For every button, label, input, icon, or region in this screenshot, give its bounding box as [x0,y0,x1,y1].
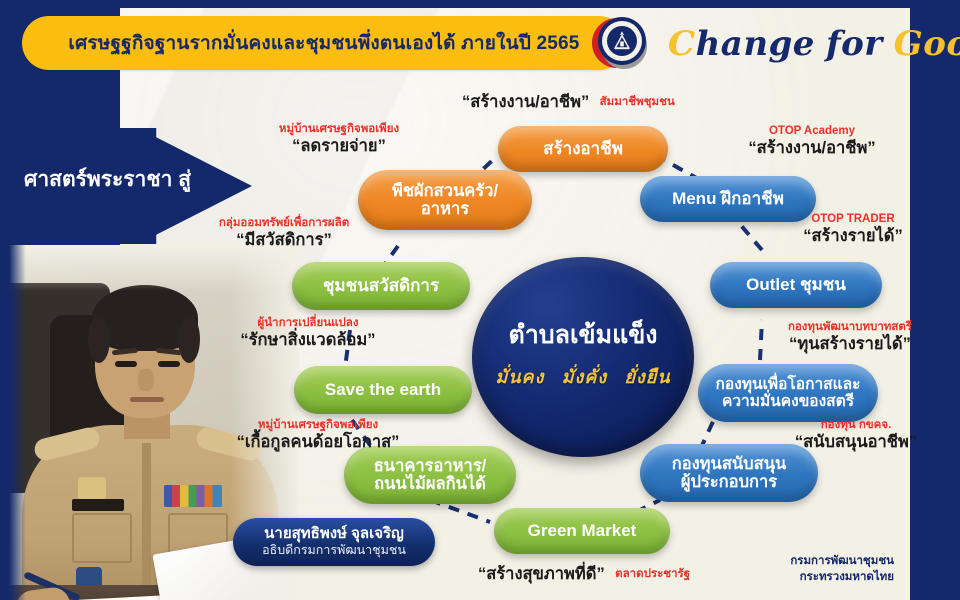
footer-credit: กรมการพัฒนาชุมชน กระทรวงมหาดไทย [790,553,894,586]
cap-mee-sawat: กลุ่มออมทรัพย์เพื่อการผลิต “มีสวัสดิการ” [186,216,382,251]
cap-sang-ngan-top-small: สัมมาชีพชุมชน [600,96,675,108]
cap-otop-trader-small: OTOP TRADER [768,212,938,226]
brand-part-g: G [894,24,924,64]
cap-lod-raijai-big: “ลดรายจ่าย” [244,136,434,157]
center-goal-circle: ตำบลเข้มแข็ง มั่นคง มั่งคั่ง ยั่งยืน [472,257,694,457]
center-title: ตำบลเข้มแข็ง [509,323,658,348]
cap-mee-sawat-big: “มีสวัสดิการ” [186,230,382,251]
change-for-good-wordmark: Change for Good [668,18,960,70]
cap-mee-sawat-small: กลุ่มออมทรัพย์เพื่อการผลิต [186,216,382,230]
node-save-the-earth[interactable]: Save the earth [294,366,472,414]
cap-raksa-singwad-small: ผู้นำการเปลี่ยนแปลง [208,316,408,330]
node-outlet[interactable]: Outlet ชุมชน [710,262,882,308]
node-sang-archeep[interactable]: สร้างอาชีพ [498,126,668,172]
brand-part-oo: oo [923,24,960,64]
cap-sanub-archeep: กองทุน กขคจ. “สนับสนุนอาชีพ” [768,418,944,453]
brand-part-c: C [668,24,696,64]
cap-otop-trader-big: “สร้างรายได้” [768,226,938,247]
page-title: เศรษฐฐกิจฐานรากมั่นคงและชุมชนพึ่งตนเองได… [68,28,579,58]
right-navy-bar [910,0,960,600]
cap-sukapap-big: “สร้างสุขภาพที่ดี” [478,565,605,583]
cap-sukapap-small: ตลาดประชารัฐ [615,568,690,580]
cap-otop-trader: OTOP TRADER “สร้างรายได้” [768,212,938,247]
brand-part-for: for [826,24,883,64]
cap-otop-academy-small: OTOP Academy [714,124,910,138]
cap-sukapap: “สร้างสุขภาพที่ดี” ตลาดประชารัฐ [478,564,690,585]
node-peuch-pak[interactable]: พืชผักสวนครัว/อาหาร [358,170,532,230]
official-position: อธิบดีกรมการพัฒนาชุมชน [262,543,406,558]
node-chumchon-sawat[interactable]: ชุมชนสวัสดิการ [292,262,470,310]
official-nameplate: นายสุทธิพงษ์ จุลเจริญ อธิบดีกรมการพัฒนาช… [233,518,435,566]
center-subtitle: มั่นคง มั่งคั่ง ยั่งยืน [490,362,675,391]
official-name: นายสุทธิพงษ์ จุลเจริญ [264,526,404,543]
center-sub-3: ยั่งยืน [624,367,670,388]
cap-kuegoon-small: หมู่บ้านเศรษฐกิจพอเพียง [206,418,430,432]
header-banner: เศรษฐฐกิจฐานรากมั่นคงและชุมชนพึ่งตนเองได… [22,16,626,70]
cap-tun-sang: กองทุนพัฒนาบทบาทสตรี “ทุนสร้างรายได้” [752,320,948,355]
footer-line-1: กรมการพัฒนาชุมชน [790,553,894,570]
cap-kuegoon-big: “เกื้อกูลคนด้อยโอกาส” [206,432,430,453]
cap-tun-sang-big: “ทุนสร้างรายได้” [752,334,948,355]
cap-sang-ngan-top-big: “สร้างงาน/อาชีพ” [462,93,589,111]
center-sub-1: มั่นคง [495,367,544,388]
node-thanakarn[interactable]: ธนาคารอาหาร/ถนนไม้ผลกินได้ [344,446,516,504]
node-kongtun-okat[interactable]: กองทุนเพื่อโอกาสและความมั่นคงของสตรี [698,364,878,422]
infographic-canvas: ศาสตร์พระราชา สู่ เศรษฐฐกิจฐานรากมั่นคงแ… [0,0,960,600]
cap-raksa-singwad: ผู้นำการเปลี่ยนแปลง “รักษาสิ่งแวดล้อม” [208,316,408,351]
cap-sanub-archeep-small: กองทุน กขคจ. [768,418,944,432]
cap-sanub-archeep-big: “สนับสนุนอาชีพ” [768,432,944,453]
cdd-emblem-logo [592,14,650,72]
top-navy-stripe [0,0,960,8]
cap-lod-raijai: หมู่บ้านเศรษฐกิจพอเพียง “ลดรายจ่าย” [244,122,434,157]
arrow-label: ศาสตร์พระราชา สู่ [24,163,234,196]
footer-line-2: กระทรวงมหาดไทย [790,569,894,586]
cap-sang-ngan-top: “สร้างงาน/อาชีพ” สัมมาชีพชุมชน [462,92,675,113]
brand-part-hange: hange [696,24,815,64]
cap-kuegoon: หมู่บ้านเศรษฐกิจพอเพียง “เกื้อกูลคนด้อยโ… [206,418,430,453]
node-green-market[interactable]: Green Market [494,508,670,554]
cap-lod-raijai-small: หมู่บ้านเศรษฐกิจพอเพียง [244,122,434,136]
cap-raksa-singwad-big: “รักษาสิ่งแวดล้อม” [208,330,408,351]
cap-tun-sang-small: กองทุนพัฒนาบทบาทสตรี [752,320,948,334]
cap-otop-academy-big: “สร้างงาน/อาชีพ” [714,138,910,159]
cap-otop-academy: OTOP Academy “สร้างงาน/อาชีพ” [714,124,910,159]
center-sub-2: มั่งคั่ง [562,367,607,388]
